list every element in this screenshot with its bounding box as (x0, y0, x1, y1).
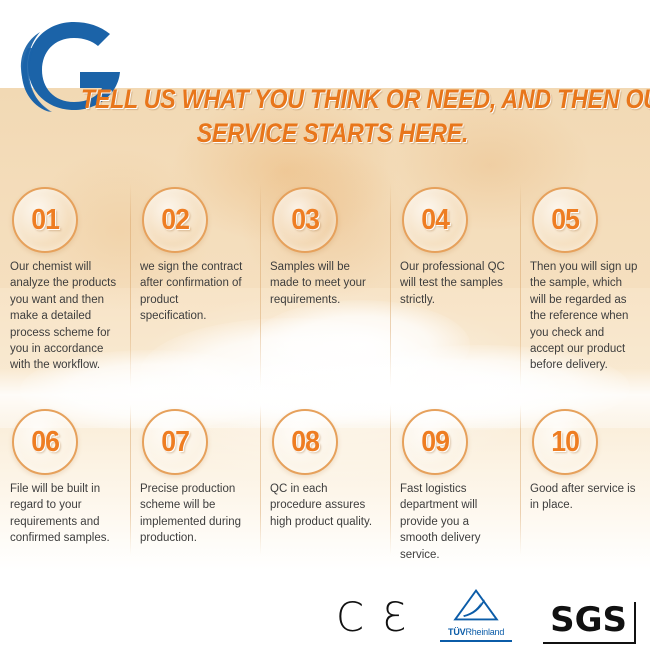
step-description: Precise production scheme will be implem… (140, 481, 250, 547)
page-title-line-1: TELL US WHAT YOU THINK OR NEED, AND THEN… (81, 82, 584, 116)
step-card-07: 07 Precise production scheme will be imp… (130, 397, 260, 565)
step-description: Good after service is in place. (530, 481, 640, 514)
step-number-badge: 01 (12, 187, 78, 253)
step-card-08: 08 QC in each procedure assures high pro… (260, 397, 390, 565)
tuv-rheinland-triangle-icon (439, 588, 513, 627)
step-card-06: 06 File will be built in regard to your … (0, 397, 130, 565)
step-number-badge: 09 (402, 409, 468, 475)
step-number: 03 (291, 206, 319, 235)
step-number-badge: 02 (142, 187, 208, 253)
steps-row-2: 06 File will be built in regard to your … (0, 397, 650, 565)
page-title: TELL US WHAT YOU THINK OR NEED, AND THEN… (40, 82, 625, 150)
tuv-rheinland-logo: TÜVRheinland (439, 588, 513, 644)
step-number: 09 (421, 428, 449, 457)
step-number: 02 (161, 206, 189, 235)
step-description: QC in each procedure assures high produc… (270, 481, 380, 530)
step-number-badge: 03 (272, 187, 338, 253)
step-number: 04 (421, 206, 449, 235)
steps-row-1: 01 Our chemist will analyze the products… (0, 175, 650, 397)
step-number-badge: 06 (12, 409, 78, 475)
tuv-label-suffix: Rheinland (465, 627, 504, 637)
step-number: 05 (551, 206, 579, 235)
tuv-rheinland-label: TÜVRheinland (439, 627, 513, 638)
step-number-badge: 07 (142, 409, 208, 475)
step-number: 01 (31, 206, 59, 235)
page-title-line-2: SERVICE STARTS HERE. (81, 116, 584, 150)
step-card-09: 09 Fast logistics department will provid… (390, 397, 520, 565)
certification-logos: C Ɛ TÜVRheinland SGS (0, 588, 650, 650)
sgs-mark-icon: SGS (543, 602, 636, 644)
step-card-10: 10 Good after service is in place. (520, 397, 650, 565)
step-card-03: 03 Samples will be made to meet your req… (260, 175, 390, 397)
step-number: 08 (291, 428, 319, 457)
step-number-badge: 04 (402, 187, 468, 253)
ce-mark-icon: C Ɛ (336, 598, 409, 644)
tuv-underline (440, 640, 512, 642)
service-process-infographic: TELL US WHAT YOU THINK OR NEED, AND THEN… (0, 0, 650, 650)
step-number: 06 (31, 428, 59, 457)
step-number-badge: 10 (532, 409, 598, 475)
step-description: Our professional QC will test the sample… (400, 259, 510, 308)
step-description: we sign the contract after confirmation … (140, 259, 250, 325)
step-number: 10 (551, 428, 579, 457)
step-description: File will be built in regard to your req… (10, 481, 120, 547)
tuv-label-prefix: TÜV (448, 627, 465, 637)
header: TELL US WHAT YOU THINK OR NEED, AND THEN… (0, 0, 650, 175)
step-number-badge: 05 (532, 187, 598, 253)
step-number-badge: 08 (272, 409, 338, 475)
step-number: 07 (161, 428, 189, 457)
step-card-04: 04 Our professional QC will test the sam… (390, 175, 520, 397)
step-description: Fast logistics department will provide y… (400, 481, 510, 563)
step-description: Then you will sign up the sample, which … (530, 259, 640, 374)
step-card-02: 02 we sign the contract after confirmati… (130, 175, 260, 397)
sgs-label: SGS (550, 600, 627, 640)
step-card-05: 05 Then you will sign up the sample, whi… (520, 175, 650, 397)
step-description: Samples will be made to meet your requir… (270, 259, 380, 308)
steps-grid: 01 Our chemist will analyze the products… (0, 175, 650, 570)
step-card-01: 01 Our chemist will analyze the products… (0, 175, 130, 397)
step-description: Our chemist will analyze the products yo… (10, 259, 120, 374)
